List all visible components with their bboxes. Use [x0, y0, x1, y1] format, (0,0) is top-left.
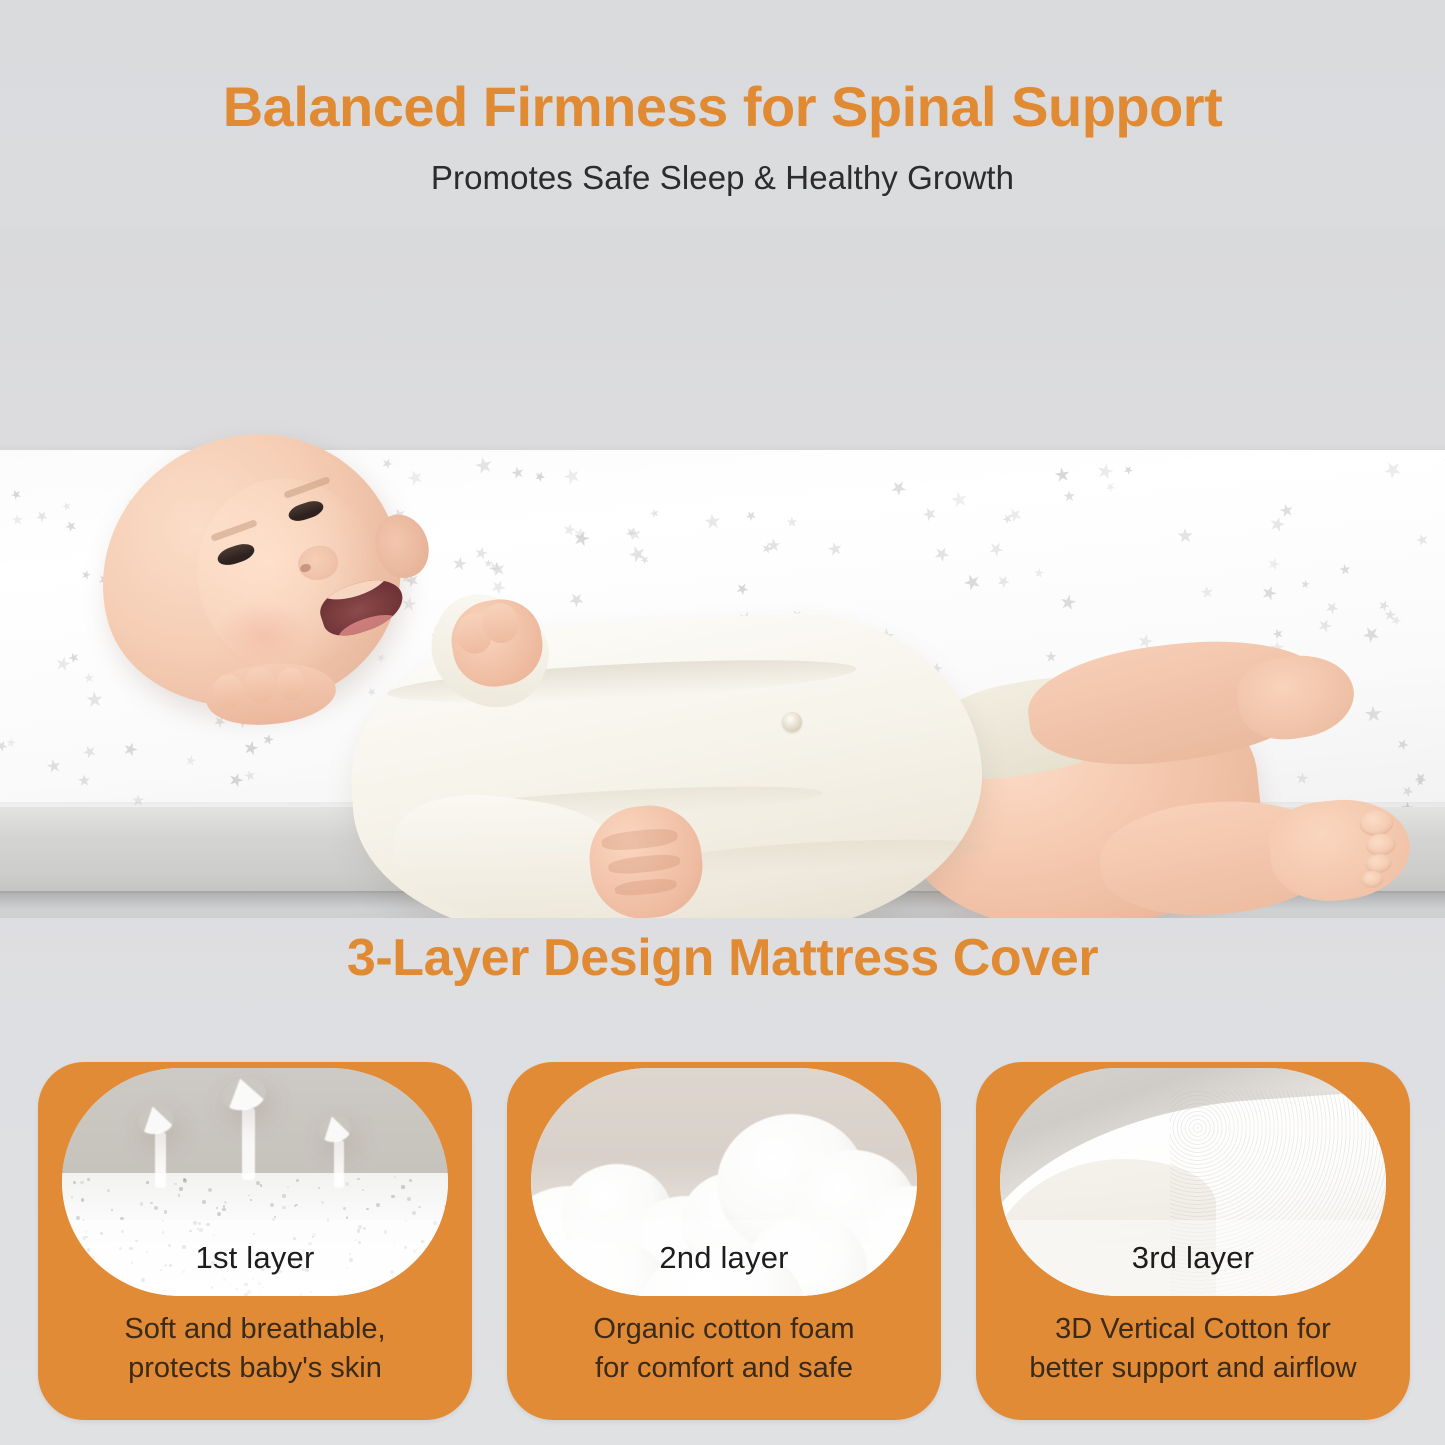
fabric-speck: [183, 1179, 187, 1183]
section-title-layers: 3-Layer Design Mattress Cover: [0, 928, 1445, 988]
layer-card-2[interactable]: 2nd layer Organic cotton foam for comfor…: [507, 1062, 941, 1420]
fabric-speck: [362, 1189, 364, 1191]
hero-photo: ★★★★★★★★★★★★★★★★★★★★★★★★★★★★★★★★★★★★★★★★…: [0, 228, 1445, 918]
layer-1-image: 1st layer: [62, 1068, 448, 1296]
fabric-speck: [260, 1184, 263, 1187]
fabric-speck: [111, 1209, 113, 1211]
layer-1-description-line2: protects baby's skin: [56, 1349, 454, 1388]
page-subtitle: Promotes Safe Sleep & Healthy Growth: [0, 137, 1445, 197]
fabric-speck: [107, 1189, 110, 1192]
baby-cheek: [215, 600, 311, 670]
knuckle: [212, 673, 245, 710]
layer-1-badge: 1st layer: [62, 1220, 448, 1296]
layer-3-description: 3D Vertical Cotton for better support an…: [994, 1310, 1392, 1388]
onesie-snap-button: [782, 712, 802, 732]
baby-toe: [1360, 870, 1384, 889]
layer-3-image: 3rd layer: [1000, 1068, 1386, 1296]
layer-2-description-line2: for comfort and safe: [525, 1349, 923, 1388]
finger: [614, 877, 677, 897]
fabric-speck: [140, 1202, 143, 1205]
layer-card-3[interactable]: 3rd layer 3D Vertical Cotton for better …: [976, 1062, 1410, 1420]
fabric-speck: [418, 1206, 420, 1208]
layer-3-badge: 3rd layer: [1000, 1220, 1386, 1296]
layer-2-image: 2nd layer: [531, 1068, 917, 1296]
layer-1-description-line1: Soft and breathable,: [56, 1310, 454, 1349]
fabric-speck: [222, 1208, 226, 1212]
fabric-speck: [366, 1208, 369, 1211]
fabric-speck: [401, 1185, 404, 1188]
fabric-speck: [346, 1217, 348, 1219]
fabric-speck: [345, 1182, 349, 1186]
fabric-speck: [179, 1187, 183, 1191]
layer-2-badge: 2nd layer: [531, 1220, 917, 1296]
fabric-speck: [146, 1181, 148, 1183]
fabric-speck: [178, 1194, 180, 1196]
layer-card-1[interactable]: 1st layer Soft and breathable, protects …: [38, 1062, 472, 1420]
layer-1-description: Soft and breathable, protects baby's ski…: [56, 1310, 454, 1388]
layer-2-description: Organic cotton foam for comfort and safe: [525, 1310, 923, 1388]
product-infographic: Balanced Firmness for Spinal Support Pro…: [0, 0, 1445, 1445]
finger: [608, 852, 681, 875]
knuckle: [243, 666, 277, 705]
page-title: Balanced Firmness for Spinal Support: [0, 0, 1445, 137]
fabric-speck: [217, 1212, 221, 1216]
fabric-speck: [391, 1195, 395, 1199]
fabric-speck: [376, 1203, 380, 1207]
finger: [601, 827, 678, 853]
fabric-speck: [296, 1179, 299, 1182]
fabric-speck: [409, 1179, 412, 1182]
fabric-speck: [216, 1207, 218, 1209]
fabric-speck: [282, 1194, 286, 1198]
layer-cards: 1st layer Soft and breathable, protects …: [38, 1062, 1410, 1420]
knuckle: [275, 666, 306, 701]
fabric-speck: [407, 1197, 411, 1201]
layer-2-description-line1: Organic cotton foam: [525, 1310, 923, 1349]
layer-3-description-line2: better support and airflow: [994, 1349, 1392, 1388]
header: Balanced Firmness for Spinal Support Pro…: [0, 0, 1445, 197]
fabric-speck: [412, 1211, 416, 1215]
fabric-speck: [224, 1201, 227, 1204]
fabric-speck: [223, 1205, 225, 1207]
fabric-speck: [81, 1198, 84, 1201]
baby-figure: [0, 228, 1445, 918]
fabric-speck: [202, 1200, 206, 1204]
fabric-speck: [256, 1181, 260, 1185]
fabric-speck: [287, 1186, 289, 1188]
layer-3-description-line1: 3D Vertical Cotton for: [994, 1310, 1392, 1349]
